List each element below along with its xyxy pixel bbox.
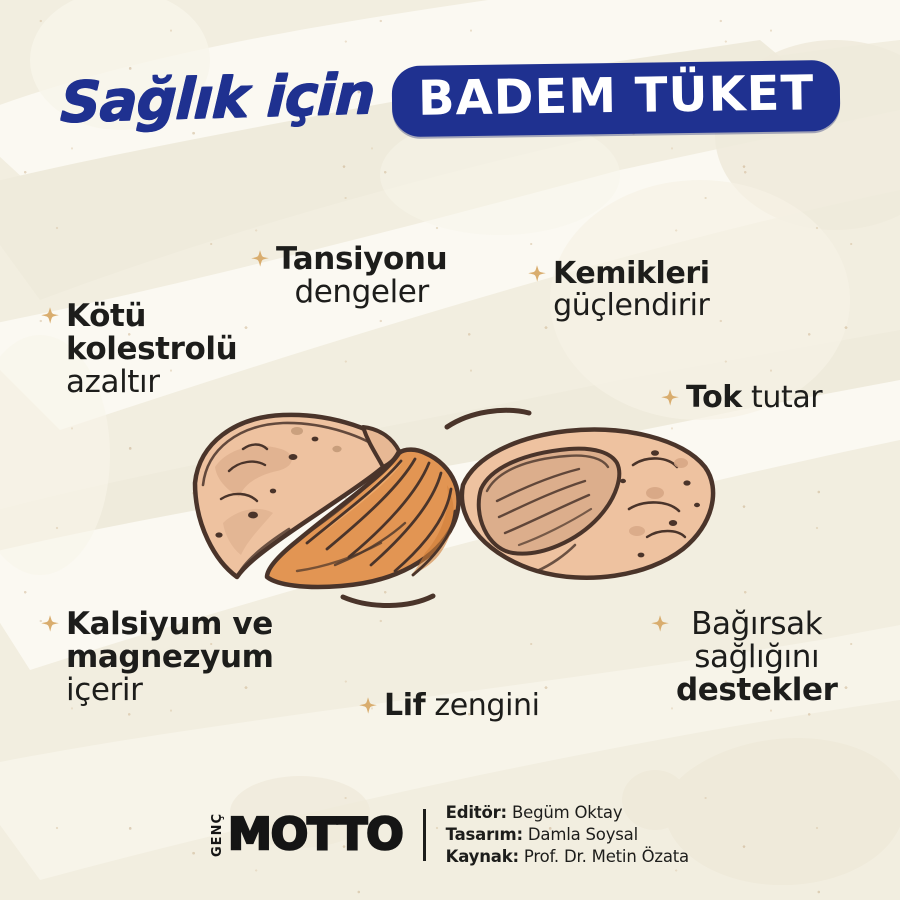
benefit-line-2: magnezyum xyxy=(66,641,274,674)
logo-genc-text: GENÇ xyxy=(211,813,224,857)
sparkle-star-icon xyxy=(40,614,60,634)
benefit-kemikler: Kemikleri güçlendirir xyxy=(527,258,710,322)
benefit-text: Tansiyonu dengeler xyxy=(276,243,447,309)
footer-divider xyxy=(423,809,426,861)
sparkle-star-icon xyxy=(358,696,378,716)
benefit-lif-zengini: Lif zengini xyxy=(358,690,540,722)
almond-nut-illustration xyxy=(185,405,725,620)
credit-row-editor: Editör: Begüm Oktay xyxy=(446,802,689,824)
badge-badem-tuket: BADEM TÜKET xyxy=(391,59,840,136)
credit-value: Begüm Oktay xyxy=(507,803,622,822)
benefit-kotu-kolestrol: Kötü kolestrolü azaltır xyxy=(40,300,237,399)
sparkle-star-icon xyxy=(527,264,547,284)
credit-label: Tasarım: xyxy=(446,825,523,844)
sparkle-star-icon xyxy=(250,249,270,269)
credit-row-kaynak: Kaynak: Prof. Dr. Metin Özata xyxy=(446,846,689,868)
benefit-text: Lif zengini xyxy=(384,690,540,722)
benefit-line-2: kolestrolü xyxy=(66,333,237,366)
benefit-tansiyon: Tansiyonu dengeler xyxy=(250,243,447,309)
benefit-text: Kötü kolestrolü azaltır xyxy=(66,300,237,399)
benefit-line-1: Kötü xyxy=(66,300,237,333)
benefit-text: Kalsiyum ve magnezyum içerir xyxy=(66,608,274,707)
page-title-script: Sağlık için xyxy=(59,61,375,135)
footer: GENÇ MOTTO Editör: Begüm Oktay Tasarım: … xyxy=(0,795,900,875)
genc-motto-logo[interactable]: GENÇ MOTTO xyxy=(211,813,403,857)
credit-label: Kaynak: xyxy=(446,847,519,866)
benefit-line-2: güçlendirir xyxy=(553,290,710,322)
credits-block: Editör: Begüm Oktay Tasarım: Damla Soysa… xyxy=(446,802,689,867)
credit-row-tasarim: Tasarım: Damla Soysal xyxy=(446,824,689,846)
benefit-line-3: içerir xyxy=(66,674,274,707)
benefit-bagirsak-sagligi: Bağırsak sağlığını destekler xyxy=(650,608,837,707)
benefit-bold-word: Lif xyxy=(384,688,425,723)
benefit-regular-word: zengini xyxy=(425,688,539,723)
benefit-line-2: dengeler xyxy=(276,276,447,309)
benefit-regular-word: tutar xyxy=(742,380,822,415)
headline: Sağlık için BADEM TÜKET xyxy=(0,48,900,148)
sparkle-star-icon xyxy=(40,306,60,326)
infographic-poster: Sağlık için BADEM TÜKET Kötü kolestrolü … xyxy=(0,0,900,900)
badge-label: BADEM TÜKET xyxy=(417,69,814,123)
benefit-line-1: Kemikleri xyxy=(553,258,710,290)
logo-motto-text: MOTTO xyxy=(228,813,403,857)
credit-value: Damla Soysal xyxy=(523,825,638,844)
benefit-line-2: sağlığını xyxy=(676,641,837,674)
benefit-line-3: destekler xyxy=(676,674,837,707)
benefit-line-3: azaltır xyxy=(66,366,237,399)
credit-label: Editör: xyxy=(446,803,507,822)
benefit-text: Kemikleri güçlendirir xyxy=(553,258,710,322)
credit-value: Prof. Dr. Metin Özata xyxy=(519,847,689,866)
benefit-text: Bağırsak sağlığını destekler xyxy=(676,608,837,707)
benefit-line-1: Tansiyonu xyxy=(276,243,447,276)
benefit-kalsiyum-magnezyum: Kalsiyum ve magnezyum içerir xyxy=(40,608,274,707)
